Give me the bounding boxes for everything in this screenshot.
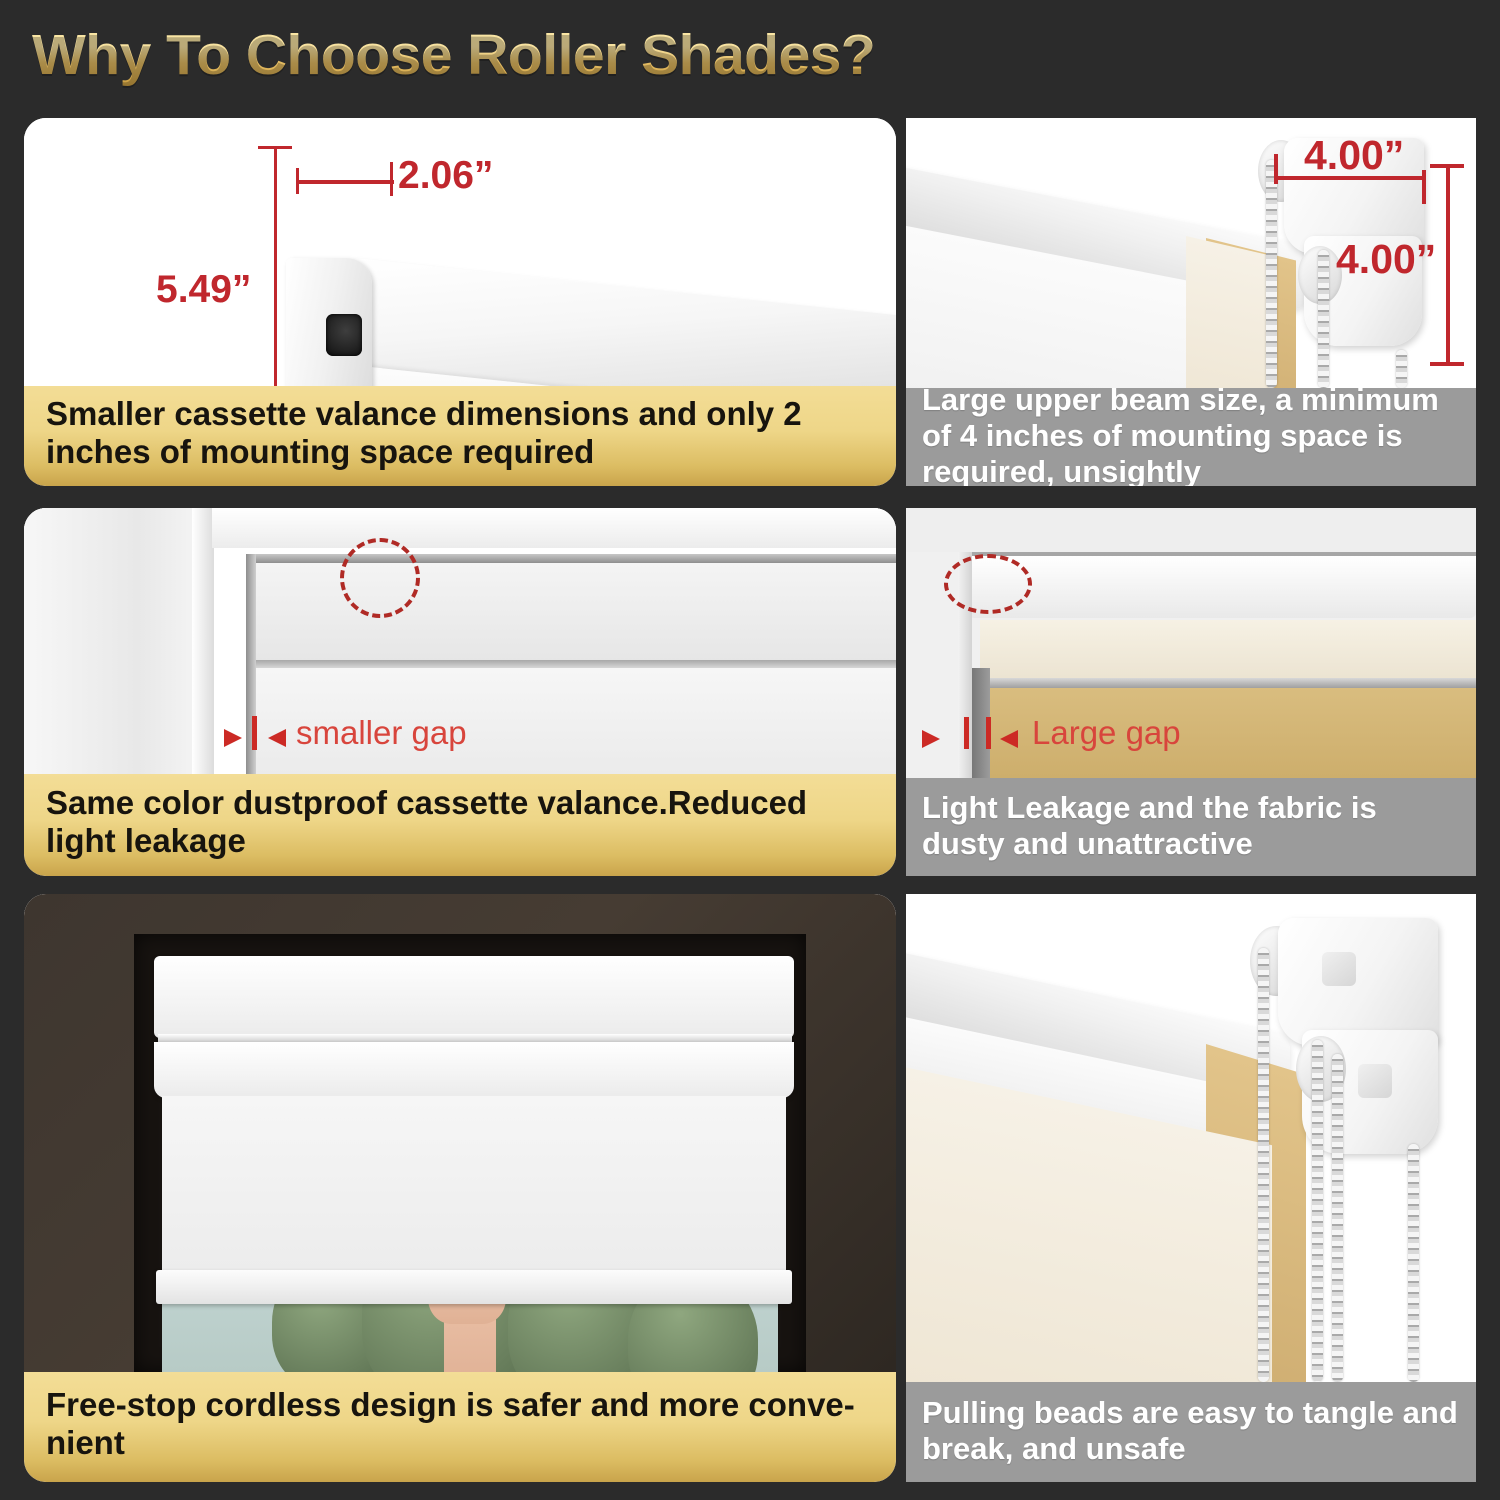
width-dim-label: 2.06” [398, 154, 493, 198]
valance-shadow-line [252, 660, 896, 668]
panel-dustproof-cassette: smaller gap Same color dustproof cassett… [24, 508, 896, 876]
bead-chain-back [1332, 1054, 1343, 1382]
bead-chain-front [1258, 948, 1269, 1382]
beam-height-tick-top [1430, 164, 1464, 168]
panel-free-stop-cordless: Free-stop cordless design is safer and m… [24, 894, 896, 1482]
gap-arrow-left-icon [224, 729, 242, 747]
panel-caption-bar: Smaller cassette valance dimensions and … [24, 386, 896, 486]
gap-tick-left [964, 717, 969, 749]
cassette-valance-photo: 5.49” 2.06” [24, 118, 896, 386]
bead-chain-front [1266, 160, 1277, 388]
width-dim-tick-right [390, 162, 393, 196]
panel-caption-text: Free-stop cordless design is safer and m… [46, 1386, 874, 1463]
panel-pulling-beads: Pulling beads are easy to tangle and bre… [906, 894, 1476, 1482]
comparison-grid: 5.49” 2.06” Smaller cassette valance dim… [24, 118, 1476, 1482]
valance-face [980, 620, 1476, 678]
gap-arrow-left-icon [922, 730, 940, 748]
panel-caption-bar: Same color dustproof cassette valance.Re… [24, 774, 896, 876]
panel-card: smaller gap Same color dustproof cassett… [24, 508, 896, 876]
mounting-bracket [1278, 918, 1438, 1046]
dustproof-cassette-photo: smaller gap [24, 508, 896, 774]
gap-label: smaller gap [296, 714, 467, 752]
bead-chain-drop [1408, 1144, 1419, 1382]
panel-caption-text: Light Leakage and the fabric is dusty an… [922, 790, 1460, 862]
panel-card: Pulling beads are easy to tangle and bre… [906, 894, 1476, 1482]
upper-beam [968, 556, 1476, 618]
shade-fabric [162, 1096, 786, 1274]
panel-caption-bar: Light Leakage and the fabric is dusty an… [906, 778, 1476, 876]
beam-height-tick-bottom [1430, 362, 1464, 366]
panel-caption-bar: Large upper beam size, a minimum of 4 in… [906, 388, 1476, 486]
width-dim-line [296, 180, 394, 184]
highlight-circle-icon [340, 538, 420, 618]
bracket-slot [326, 314, 362, 356]
pulling-beads-photo [906, 894, 1476, 1382]
cassette-valance [154, 956, 794, 1038]
gap-arrow-right-icon [1000, 730, 1018, 748]
panel-card: Large gap Light Leakage and the fabric i… [906, 508, 1476, 876]
bottom-rail [156, 1270, 792, 1304]
gap-arrow-right-icon [268, 729, 286, 747]
beam-width-tick-right [1422, 170, 1426, 204]
free-stop-photo [24, 894, 896, 1372]
gap-tick-right [986, 717, 991, 749]
valance-lip [158, 1034, 792, 1042]
panel-light-leakage: Large gap Light Leakage and the fabric i… [906, 508, 1476, 876]
large-beam-photo: 4.00” 4.00” [906, 118, 1476, 388]
bead-chain-back [1318, 250, 1329, 388]
window-frame-edge [192, 508, 214, 774]
panel-caption-bar: Free-stop cordless design is safer and m… [24, 1372, 896, 1482]
beam-width-label: 4.00” [1304, 132, 1404, 179]
valance-bottom-edge [980, 678, 1476, 688]
height-dim-label: 5.49” [156, 268, 251, 312]
beam-height-dim-line [1446, 164, 1450, 366]
height-dim-tick-top [258, 146, 292, 149]
beam-height-label: 4.00” [1336, 236, 1436, 283]
panel-card: 4.00” 4.00” Large upper beam size, a min… [906, 118, 1476, 486]
window-frame-top [212, 508, 896, 548]
beam-width-tick-left [1274, 154, 1278, 184]
panel-caption-text: Large upper beam size, a minimum of 4 in… [922, 382, 1460, 486]
panel-large-upper-beam: 4.00” 4.00” Large upper beam size, a min… [906, 118, 1476, 486]
panel-caption-text: Smaller cassette valance dimensions and … [46, 395, 874, 472]
width-dim-tick-left [296, 168, 299, 194]
gap-tick [252, 716, 257, 750]
panel-caption-text: Same color dustproof cassette valance.Re… [46, 784, 874, 861]
panel-caption-text: Pulling beads are easy to tangle and bre… [922, 1395, 1460, 1467]
ceiling-area [906, 508, 1476, 552]
bracket-emblem-icon [1358, 1064, 1392, 1098]
highlight-circle-icon [944, 554, 1032, 614]
gap-label: Large gap [1032, 714, 1181, 752]
valance-lower-lip [154, 1042, 794, 1098]
bead-chain-middle [1312, 1040, 1323, 1382]
light-leakage-photo: Large gap [906, 508, 1476, 778]
panel-card: 5.49” 2.06” Smaller cassette valance dim… [24, 118, 896, 486]
overlap-fabric [1186, 236, 1272, 388]
infographic-page: Why To Choose Roller Shades? [0, 0, 1500, 1500]
panel-card: Free-stop cordless design is safer and m… [24, 894, 896, 1482]
bracket-emblem-icon [1322, 952, 1356, 986]
window-frame-left [24, 508, 199, 774]
height-dim-line [274, 146, 277, 386]
panel-caption-bar: Pulling beads are easy to tangle and bre… [906, 1382, 1476, 1482]
panel-cassette-valance: 5.49” 2.06” Smaller cassette valance dim… [24, 118, 896, 486]
page-title: Why To Choose Roller Shades? [32, 22, 875, 88]
